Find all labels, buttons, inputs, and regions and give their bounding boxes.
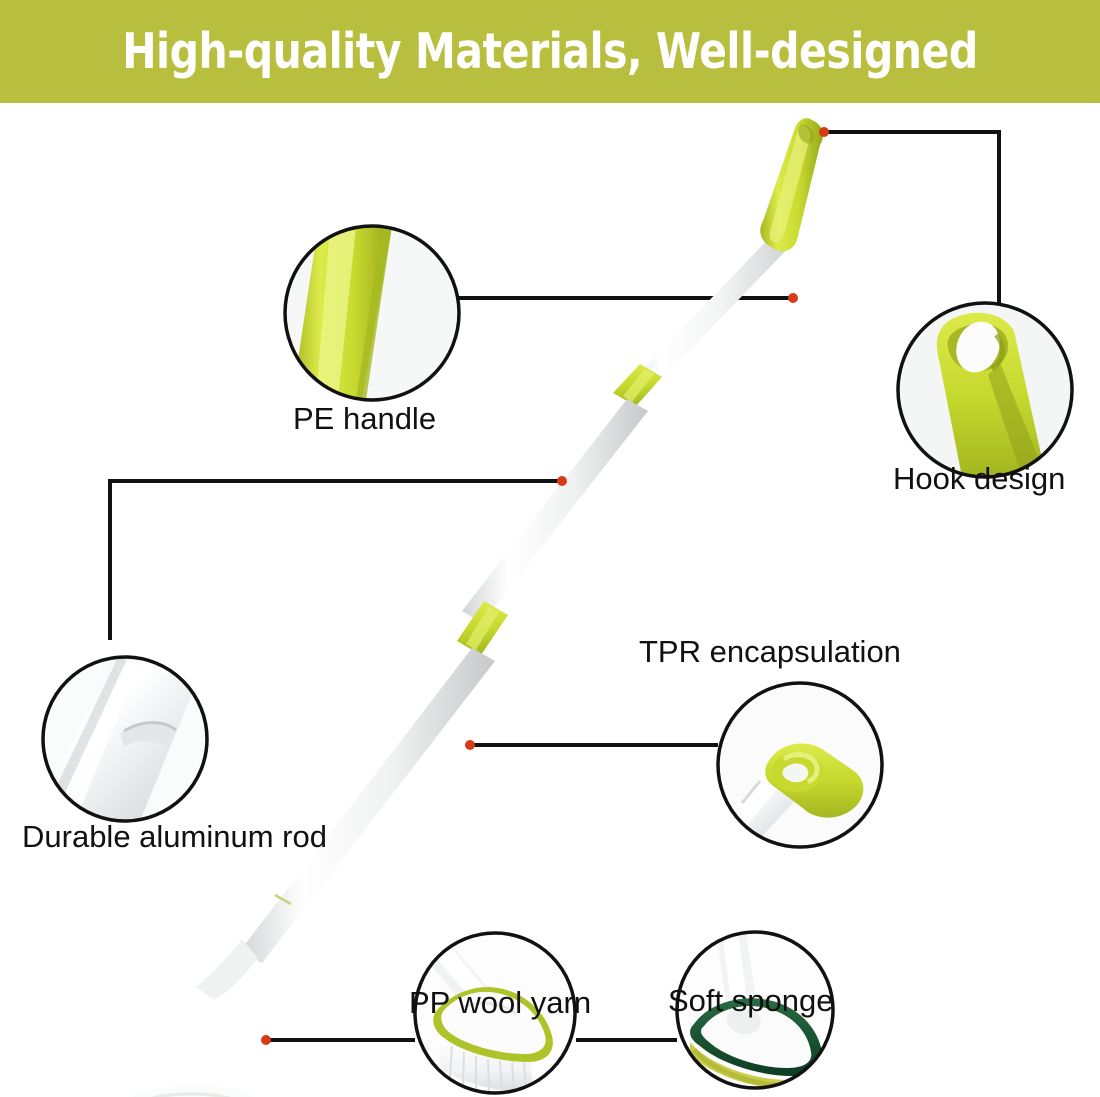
leader-line-hook-design (824, 132, 999, 303)
anchor-marker-pp-wool-yarn (261, 1035, 271, 1045)
infographic-page: High-quality Materials, Well-designed (0, 0, 1100, 1097)
callout-circle-tpr (718, 683, 882, 847)
callout-label-soft-sponge: Soft sponge (668, 985, 833, 1016)
brush-head-neck (196, 939, 258, 1000)
page-title: High-quality Materials, Well-designed (122, 27, 978, 76)
leader-lines (110, 132, 999, 1040)
lower-aluminum-rod (240, 648, 495, 963)
anchor-marker-aluminum-rod (557, 476, 567, 486)
header-banner: High-quality Materials, Well-designed (0, 0, 1100, 103)
anchor-marker-tpr (465, 740, 475, 750)
anchor-marker-pe-handle (788, 293, 798, 303)
anchor-marker-hook-design (819, 127, 829, 137)
callout-label-pp-wool-yarn: PP wool yarn (409, 987, 591, 1018)
callout-label-aluminum-rod: Durable aluminum rod (22, 821, 327, 852)
callout-label-pe-handle: PE handle (293, 403, 436, 434)
product-illustration-stage: PE handle Hook design Durable aluminum r… (0, 103, 1100, 1097)
brush-head-body (102, 1085, 267, 1097)
middle-aluminum-rod (462, 399, 648, 623)
callout-circle-aluminum-rod (43, 657, 207, 821)
callout-label-hook-design: Hook design (893, 463, 1065, 494)
callout-label-tpr-encapsulation: TPR encapsulation (639, 636, 901, 667)
pe-grip-handle (760, 118, 823, 251)
callout-circle-hook-design (898, 303, 1072, 477)
callout-circle-pe-handle (285, 226, 459, 400)
product-diagram-svg (0, 103, 1100, 1097)
